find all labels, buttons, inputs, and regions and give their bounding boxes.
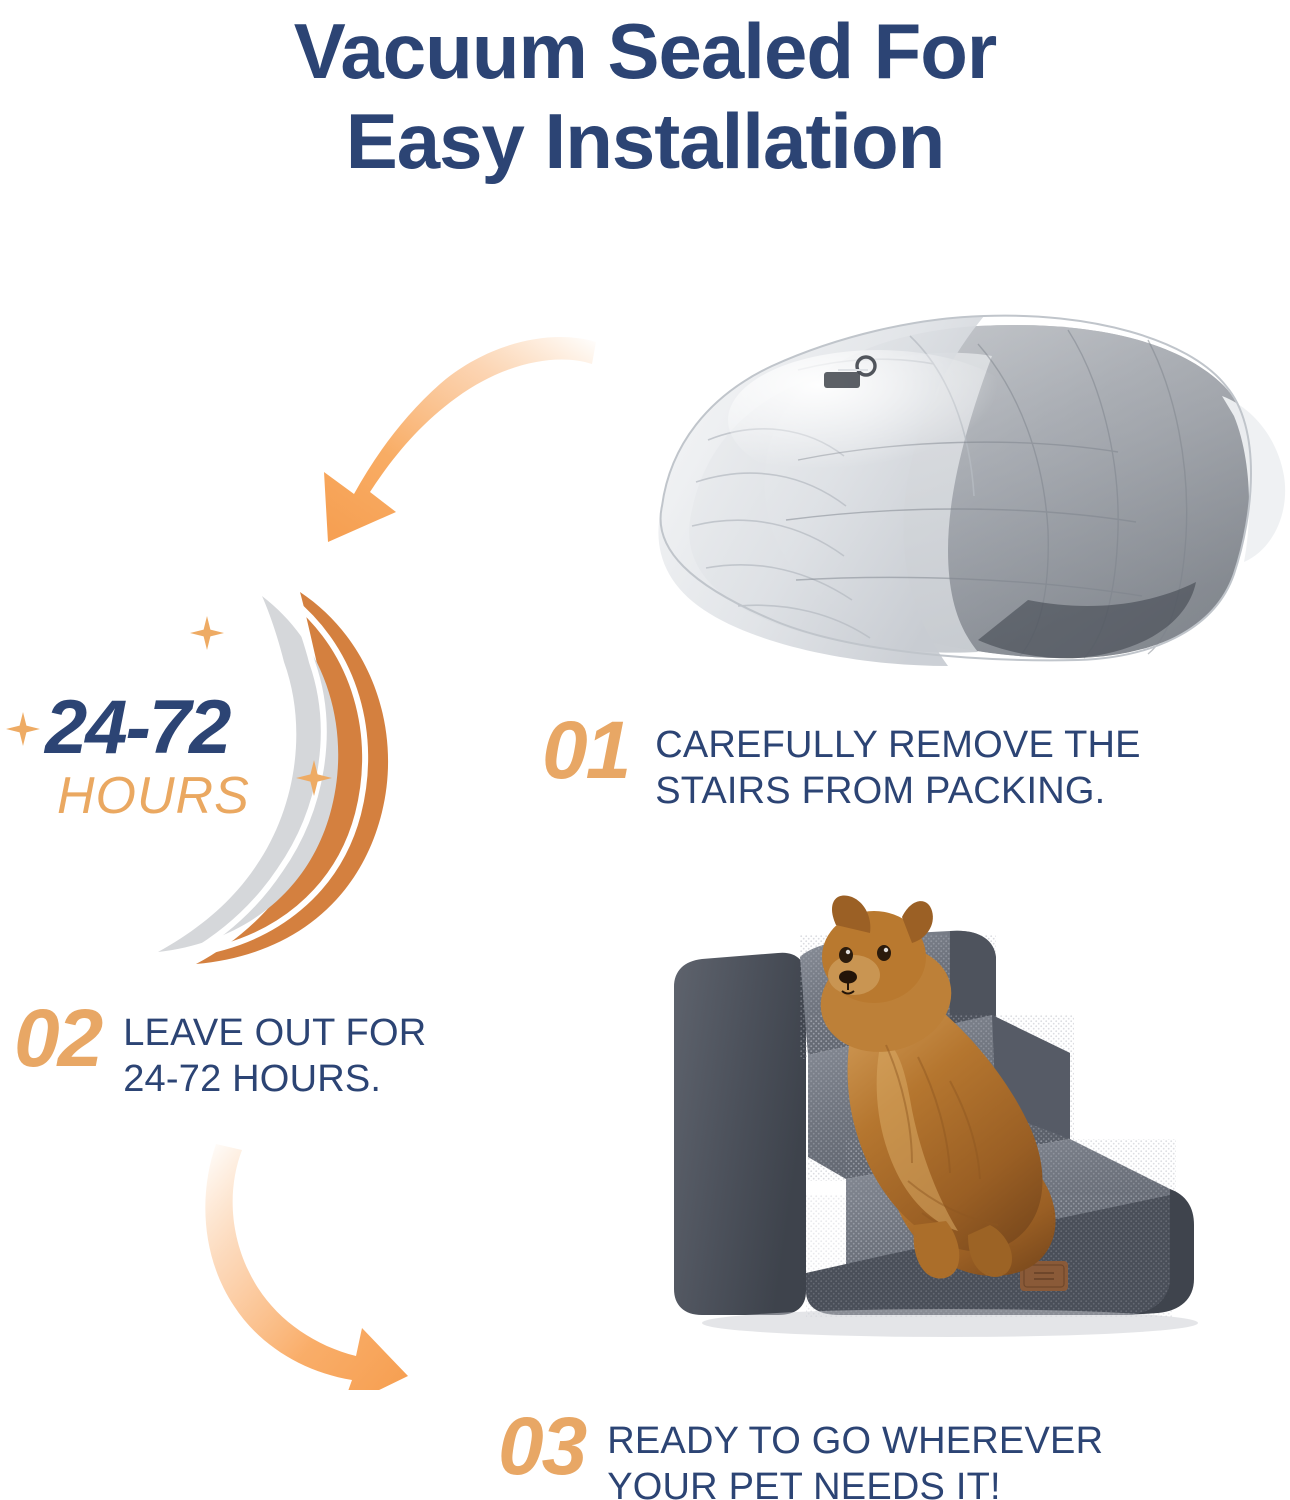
step-text-01-line-2: STAIRS FROM PACKING. (655, 768, 1140, 814)
step-text-02-line-1: LEAVE OUT FOR (123, 1010, 426, 1056)
step-text-01-line-1: CAREFULLY REMOVE THE (655, 722, 1140, 768)
step-number-03: 03 (498, 1408, 585, 1486)
dog-on-pet-stairs-photo (650, 895, 1290, 1375)
step-text-02: LEAVE OUT FOR 24-72 HOURS. (123, 1000, 426, 1102)
page-title-line-1: Vacuum Sealed For (0, 6, 1290, 96)
step-item-01: 01 CAREFULLY REMOVE THE STAIRS FROM PACK… (542, 712, 1141, 814)
step-number-02: 02 (14, 1000, 101, 1078)
arrow-down-right-icon (180, 1140, 530, 1390)
infographic-page: Vacuum Sealed For Easy Installation (0, 0, 1290, 1500)
badge-duration-value: 24-72 (45, 690, 229, 766)
step-text-03-line-1: READY TO GO WHEREVER (607, 1418, 1103, 1464)
step-item-02: 02 LEAVE OUT FOR 24-72 HOURS. (14, 1000, 426, 1102)
step-text-02-line-2: 24-72 HOURS. (123, 1056, 426, 1102)
step-text-03: READY TO GO WHEREVER YOUR PET NEEDS IT! (607, 1408, 1103, 1500)
step-text-01: CAREFULLY REMOVE THE STAIRS FROM PACKING… (655, 712, 1140, 814)
step-text-03-line-2: YOUR PET NEEDS IT! (607, 1464, 1103, 1500)
step-item-03: 03 READY TO GO WHEREVER YOUR PET NEEDS I… (498, 1408, 1103, 1500)
vacuum-sealed-package-photo (648, 300, 1290, 690)
badge-duration-unit: HOURS (57, 770, 250, 822)
page-title-line-2: Easy Installation (0, 96, 1290, 186)
step-number-01: 01 (542, 712, 629, 790)
page-title: Vacuum Sealed For Easy Installation (0, 6, 1290, 186)
arrow-down-left-icon (300, 320, 600, 570)
